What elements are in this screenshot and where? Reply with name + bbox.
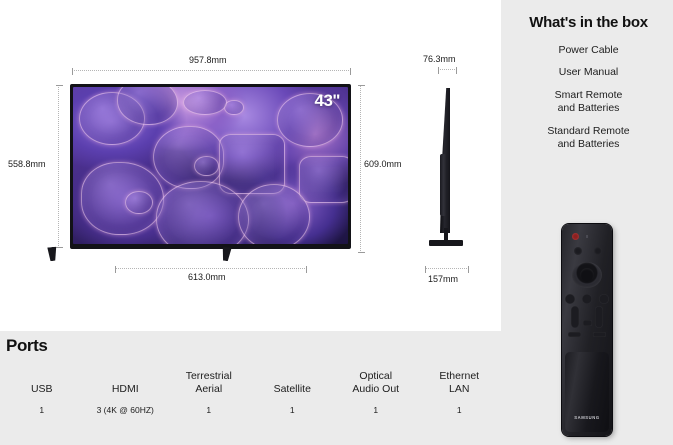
volume-rocker (571, 306, 579, 328)
dimension-label-width-top: 957.8mm (189, 55, 227, 65)
box-item-power-cable: Power Cable (506, 44, 671, 57)
port-column-satellite: Satellite 1 (251, 370, 335, 415)
wallpaper-bubble (299, 156, 349, 203)
tv-stand-base (429, 240, 463, 246)
port-name-line1: USB (31, 383, 53, 396)
box-item-label-line2: and Batteries (506, 138, 671, 151)
port-count: 1 (0, 405, 84, 415)
box-item-standard-remote: Standard Remote and Batteries (506, 125, 671, 152)
dimension-line-base-depth (425, 268, 469, 269)
box-item-label-line2: and Batteries (506, 102, 671, 115)
wallpaper-bubble (183, 90, 227, 115)
remote-row-back-home-guide (562, 294, 612, 304)
port-name-line1: HDMI (112, 383, 139, 396)
dimension-line-stand-width (115, 268, 307, 269)
port-name-line2: LAN (449, 383, 469, 396)
box-item-label-line1: Smart Remote (506, 89, 671, 102)
port-count: 1 (251, 405, 335, 415)
app-shortcut-netflix-icon (568, 332, 581, 337)
ports-title: Ports (6, 336, 501, 356)
dimension-label-height-left: 558.8mm (8, 159, 46, 169)
back-button-icon (565, 294, 575, 304)
samsung-logo: SAMSUNG (565, 415, 609, 420)
dpad-navigation-wheel (572, 262, 602, 288)
port-name: Satellite (251, 370, 335, 396)
port-column-optical-audio-out: Optical Audio Out 1 (334, 370, 418, 415)
dimension-label-depth: 76.3mm (423, 54, 456, 64)
mute-button-icon (583, 320, 592, 326)
dimension-line-height-right (360, 85, 361, 253)
app-shortcut-primevideo-icon (593, 332, 606, 337)
power-button-icon (572, 233, 579, 240)
port-name-line1: Optical (359, 370, 392, 383)
port-name-line2: Audio Out (352, 383, 399, 396)
dimension-line-depth (438, 69, 457, 70)
wallpaper-bubble (224, 100, 243, 116)
dimension-label-height-right: 609.0mm (364, 159, 402, 169)
port-column-hdmi: HDMI 3 (4K @ 60HZ) (84, 370, 168, 415)
port-name: Terrestrial Aerial (167, 370, 251, 396)
tv-bezel: 43" (70, 84, 351, 249)
whats-in-the-box-title: What's in the box (506, 14, 671, 31)
dimension-line-height-left (58, 85, 59, 248)
box-item-label-line1: Standard Remote (506, 125, 671, 138)
port-column-usb: USB 1 (0, 370, 84, 415)
box-item-label: User Manual (559, 66, 619, 78)
port-count: 1 (334, 405, 418, 415)
remote-upper-face (562, 224, 612, 344)
tv-side-chassis-bump (440, 154, 447, 216)
port-column-terrestrial-aerial: Terrestrial Aerial 1 (167, 370, 251, 415)
port-name-line1: Ethernet (439, 370, 479, 383)
tv-screen-wallpaper: 43" (73, 87, 348, 244)
port-name-line1: Terrestrial (186, 370, 232, 383)
ports-section: Ports USB 1 HDMI 3 (4K @ 60HZ) Terrestri… (0, 336, 501, 415)
port-count: 1 (167, 405, 251, 415)
smart-remote-image: SAMSUNG (562, 224, 612, 436)
tv-side-view (424, 88, 470, 253)
home-button-icon (582, 294, 592, 304)
port-column-ethernet-lan: Ethernet LAN 1 (418, 370, 502, 415)
dimension-label-base-depth: 157mm (428, 274, 458, 284)
port-name-line2: Aerial (195, 383, 222, 396)
port-name: USB (0, 370, 84, 396)
tv-screen-size-label: 43" (315, 91, 340, 111)
product-spec-sheet: 957.8mm 558.8mm 609.0mm 43" (0, 0, 673, 445)
box-item-user-manual: User Manual (506, 66, 671, 79)
port-name: Optical Audio Out (334, 370, 418, 396)
remote-led-indicator (586, 235, 588, 238)
dimension-label-stand-width: 613.0mm (188, 272, 226, 282)
port-name-line1: Satellite (274, 383, 311, 396)
wallpaper-bubble (238, 184, 310, 244)
wallpaper-bubble (125, 191, 153, 215)
remote-lower-body: SAMSUNG (565, 352, 609, 432)
port-name: HDMI (84, 370, 168, 396)
port-count: 1 (418, 405, 502, 415)
colour-button-icon (594, 247, 602, 255)
remote-row-apps (562, 332, 612, 337)
port-name: Ethernet LAN (418, 370, 502, 396)
ports-row: USB 1 HDMI 3 (4K @ 60HZ) Terrestrial Aer… (0, 370, 501, 415)
box-item-label: Power Cable (558, 44, 618, 56)
channel-rocker (595, 306, 603, 328)
guide-button-icon (599, 294, 609, 304)
box-item-smart-remote: Smart Remote and Batteries (506, 89, 671, 116)
port-count: 3 (4K @ 60HZ) (84, 405, 168, 415)
tv-front-view: 43" (70, 84, 351, 249)
whats-in-the-box-section: What's in the box Power Cable User Manua… (506, 14, 671, 161)
dimension-line-width-top (72, 70, 351, 71)
microphone-button-icon (574, 247, 582, 255)
